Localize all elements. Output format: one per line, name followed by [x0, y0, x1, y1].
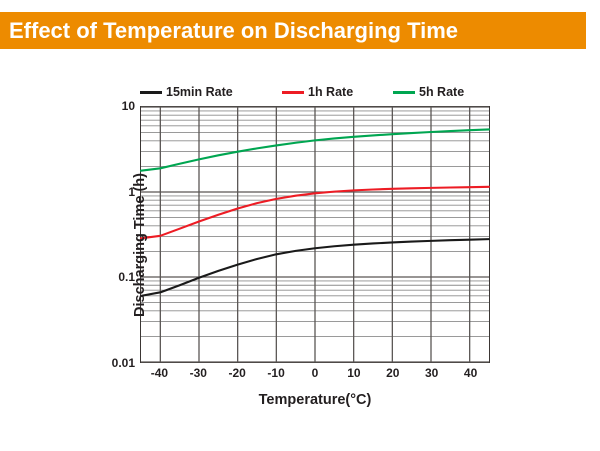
legend-item: 15min Rate	[140, 84, 233, 100]
x-tick-label: -20	[229, 366, 246, 380]
chart-plot-area	[140, 106, 490, 363]
x-tick-label: 10	[347, 366, 360, 380]
legend-color-swatch	[140, 91, 162, 94]
y-axis-tick-labels: 1010.10.01	[95, 106, 135, 363]
x-tick-label: -10	[267, 366, 284, 380]
y-axis-title-wrap: Discharging Time (h)	[70, 105, 92, 365]
x-tick-label: 40	[464, 366, 477, 380]
page-title: Effect of Temperature on Discharging Tim…	[0, 18, 458, 44]
y-tick-label: 10	[122, 99, 135, 113]
x-tick-label: -40	[151, 366, 168, 380]
legend-color-swatch	[393, 91, 415, 94]
legend-label: 1h Rate	[308, 85, 353, 99]
legend-label: 5h Rate	[419, 85, 464, 99]
legend-item: 5h Rate	[393, 84, 464, 100]
x-tick-label: 20	[386, 366, 399, 380]
chart-series-lines	[141, 107, 489, 362]
y-axis-title: Discharging Time (h)	[132, 145, 152, 345]
x-axis-tick-labels: -40-30-20-10010203040	[140, 366, 490, 384]
chart-legend: 15min Rate1h Rate5h Rate	[140, 84, 500, 100]
legend-label: 15min Rate	[166, 85, 233, 99]
legend-color-swatch	[282, 91, 304, 94]
x-tick-label: 0	[312, 366, 319, 380]
legend-item: 1h Rate	[282, 84, 353, 100]
y-tick-label: 0.01	[112, 356, 135, 370]
chart-title-banner: Effect of Temperature on Discharging Tim…	[0, 12, 586, 49]
x-tick-label: 30	[425, 366, 438, 380]
x-axis-title: Temperature(°C)	[140, 392, 490, 408]
x-tick-label: -30	[190, 366, 207, 380]
